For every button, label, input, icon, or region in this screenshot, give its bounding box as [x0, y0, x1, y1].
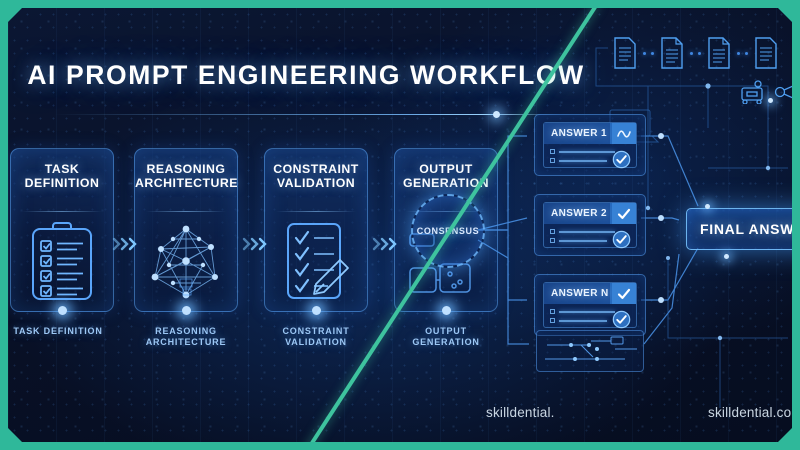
document-icon	[706, 36, 732, 70]
checkbox-square	[550, 309, 555, 314]
flow-dot	[643, 52, 646, 55]
final-answer-box[interactable]: FINAL ANSWER	[686, 208, 792, 250]
answer-header: ANSWER 1	[544, 123, 636, 144]
answer-label: ANSWER N	[544, 283, 612, 304]
dark-panel: AI PROMPT ENGINEERING WORKFLOW TASK DEFI…	[8, 8, 792, 442]
flow-dot	[745, 52, 748, 55]
row-line	[559, 240, 607, 242]
check-circle-icon	[612, 150, 631, 169]
robot-icon	[738, 80, 768, 104]
checkbox-square	[550, 149, 555, 154]
answer-header: ANSWER 2	[544, 203, 636, 224]
row-line	[559, 320, 607, 322]
checkbox-square	[550, 158, 555, 163]
answer-card-1[interactable]: ANSWER 1	[534, 114, 646, 176]
answer-card-inner: ANSWER N	[543, 282, 637, 328]
final-answer-label: FINAL ANSWER	[700, 221, 792, 237]
glow-node	[705, 204, 710, 209]
glow-node	[724, 254, 729, 259]
flow-dot	[690, 52, 693, 55]
answer-label: ANSWER 1	[544, 123, 612, 144]
document-icon	[612, 36, 638, 70]
document-icon	[659, 36, 685, 70]
connector-lines	[8, 8, 792, 442]
check-circle-icon	[612, 310, 631, 329]
share-network-icon	[774, 80, 792, 104]
watermark-right: skilldential.co	[708, 405, 791, 420]
answer-card-2[interactable]: ANSWER 2	[534, 194, 646, 256]
check-icon	[612, 283, 636, 304]
checkbox-square	[550, 229, 555, 234]
flow-dot	[698, 52, 701, 55]
answer-card-n[interactable]: ANSWER N	[534, 274, 646, 336]
answer-card-inner: ANSWER 1	[543, 122, 637, 168]
answer-header: ANSWER N	[544, 283, 636, 304]
circuit-pattern-icon	[536, 330, 644, 372]
watermark-left: skilldential.	[486, 405, 555, 420]
answer-label: ANSWER 2	[544, 203, 612, 224]
wave-squiggle-icon	[612, 123, 636, 144]
document-flow-row	[612, 36, 779, 70]
row-line	[559, 311, 615, 313]
check-icon	[612, 203, 636, 224]
row-line	[559, 160, 607, 162]
flow-dot	[737, 52, 740, 55]
checkbox-square	[550, 238, 555, 243]
row-line	[559, 151, 615, 153]
answer-card-inner: ANSWER 2	[543, 202, 637, 248]
checkbox-square	[550, 318, 555, 323]
row-line	[559, 231, 615, 233]
check-circle-icon	[612, 230, 631, 249]
glow-node	[768, 98, 773, 103]
document-icon	[753, 36, 779, 70]
flow-dot	[651, 52, 654, 55]
infographic-canvas: AI PROMPT ENGINEERING WORKFLOW TASK DEFI…	[0, 0, 800, 450]
